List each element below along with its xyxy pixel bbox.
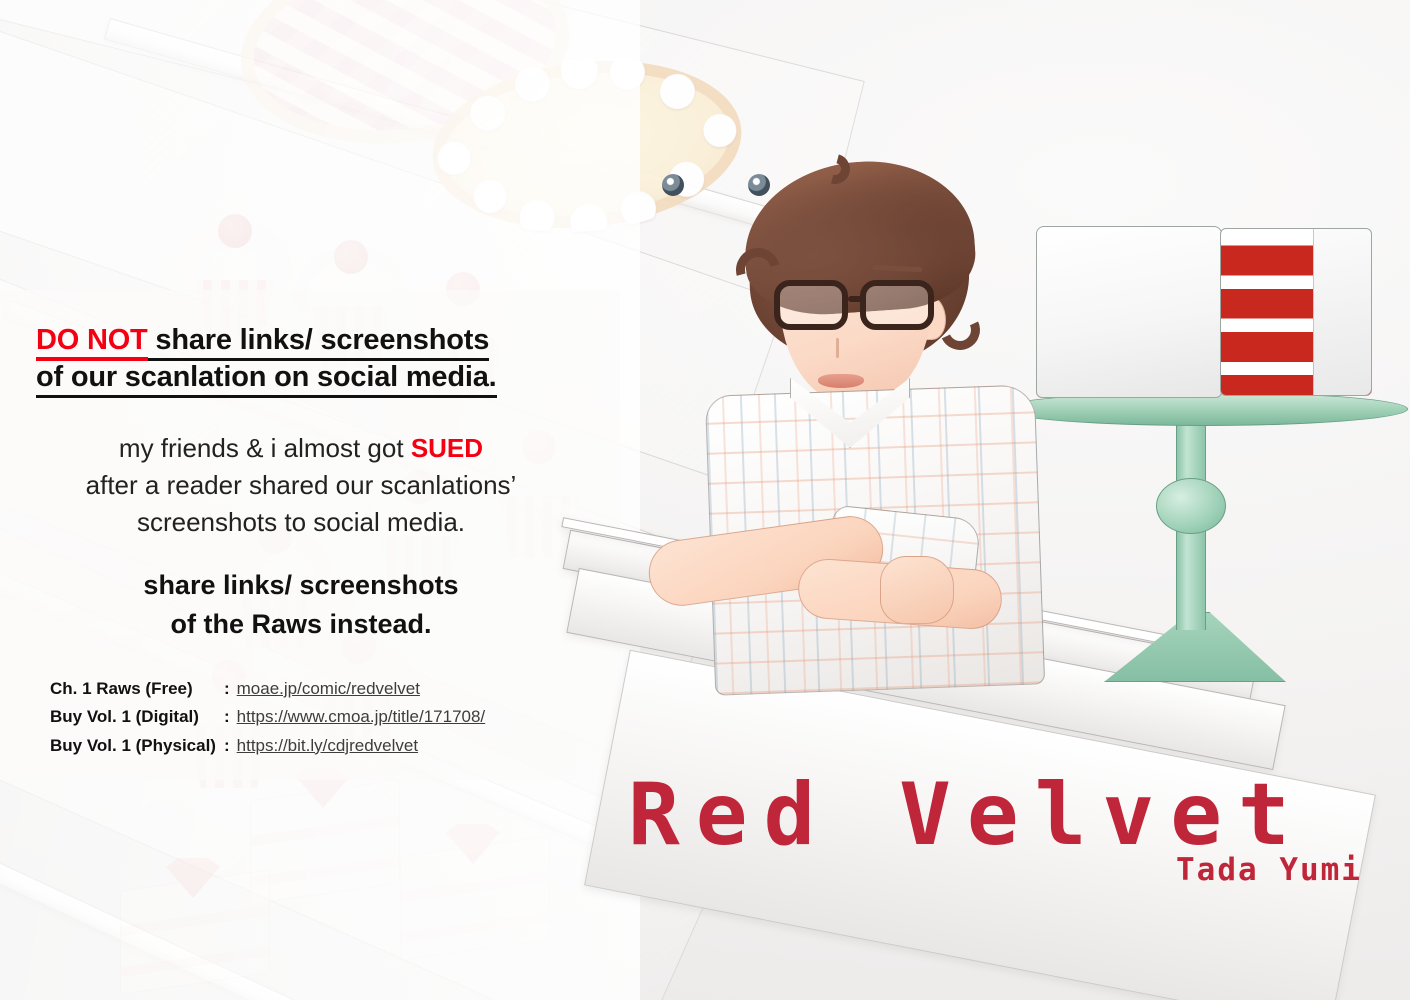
- strawberry-shortcake: [400, 846, 550, 950]
- sued-line-3: screenshots to social media.: [36, 504, 566, 541]
- sued-paragraph: my friends & i almost got SUED after a r…: [36, 430, 566, 541]
- link-label: Buy Vol. 1 (Physical): [50, 733, 224, 761]
- link-label: Buy Vol. 1 (Digital): [50, 704, 224, 732]
- sued-line-1: my friends & i almost got SUED: [36, 430, 566, 467]
- link-url-cell[interactable]: moae.jp/comic/redvelvet: [237, 676, 486, 704]
- link-label: Ch. 1 Raws (Free): [50, 676, 224, 704]
- poster-canvas: DO NOT share links/ screenshots of our s…: [0, 0, 1410, 1000]
- nose: [836, 338, 839, 358]
- sued-emphasis: SUED: [411, 433, 483, 463]
- do-not-emphasis: DO NOT: [36, 324, 148, 361]
- strawberry-shortcake: [120, 880, 270, 984]
- source-links: Ch. 1 Raws (Free) : moae.jp/comic/redvel…: [50, 676, 485, 761]
- link-row: Ch. 1 Raws (Free) : moae.jp/comic/redvel…: [50, 676, 485, 704]
- notice-line-2: of our scanlation on social media.: [36, 361, 497, 398]
- share-raws-instruction: share links/ screenshots of the Raws ins…: [36, 566, 566, 644]
- do-not-share-notice: DO NOT share links/ screenshots of our s…: [36, 322, 566, 396]
- sued-line-2: after a reader shared our scanlations’: [36, 467, 566, 504]
- shelf-band-lower: [0, 830, 583, 1000]
- link-url[interactable]: https://bit.ly/cdjredvelvet: [237, 736, 418, 755]
- character-illustration: [640, 160, 1110, 720]
- link-url[interactable]: moae.jp/comic/redvelvet: [237, 679, 420, 698]
- link-url[interactable]: https://www.cmoa.jp/title/171708/: [237, 707, 486, 726]
- link-url-cell[interactable]: https://bit.ly/cdjredvelvet: [237, 733, 486, 761]
- eye-right: [748, 174, 770, 196]
- lattice-pie: [230, 0, 581, 161]
- mouth: [818, 374, 864, 388]
- raws-line-1: share links/ screenshots: [36, 566, 566, 605]
- link-colon: :: [224, 676, 237, 704]
- fist: [880, 556, 954, 624]
- notice-line-2-wrap: of our scanlation on social media.: [36, 359, 566, 396]
- link-colon: :: [224, 733, 237, 761]
- glasses-lens-left: [774, 280, 848, 330]
- link-row: Buy Vol. 1 (Physical) : https://bit.ly/c…: [50, 733, 485, 761]
- raws-line-2: of the Raws instead.: [36, 605, 566, 644]
- notice-line-1: DO NOT share links/ screenshots: [36, 322, 566, 359]
- cake-cut-slice-layers: [1220, 228, 1372, 396]
- notice-line-1-rest: share links/ screenshots: [148, 324, 490, 361]
- link-url-cell[interactable]: https://www.cmoa.jp/title/171708/: [237, 704, 486, 732]
- glasses: [774, 280, 950, 330]
- glasses-lens-right: [860, 280, 934, 330]
- eye-left: [662, 174, 684, 196]
- author-credit: Tada Yumi: [1176, 852, 1362, 888]
- links-table: Ch. 1 Raws (Free) : moae.jp/comic/redvel…: [50, 676, 485, 761]
- strawberry-shortcake: [250, 790, 400, 894]
- glasses-bridge: [848, 296, 864, 302]
- sued-line-1-pre: my friends & i almost got: [119, 433, 411, 463]
- series-title: Red Velvet: [628, 772, 1306, 858]
- link-colon: :: [224, 704, 237, 732]
- link-row: Buy Vol. 1 (Digital) : https://www.cmoa.…: [50, 704, 485, 732]
- cake-slice-frosted-face: [1313, 229, 1371, 395]
- cake-stand-bulb: [1156, 478, 1226, 534]
